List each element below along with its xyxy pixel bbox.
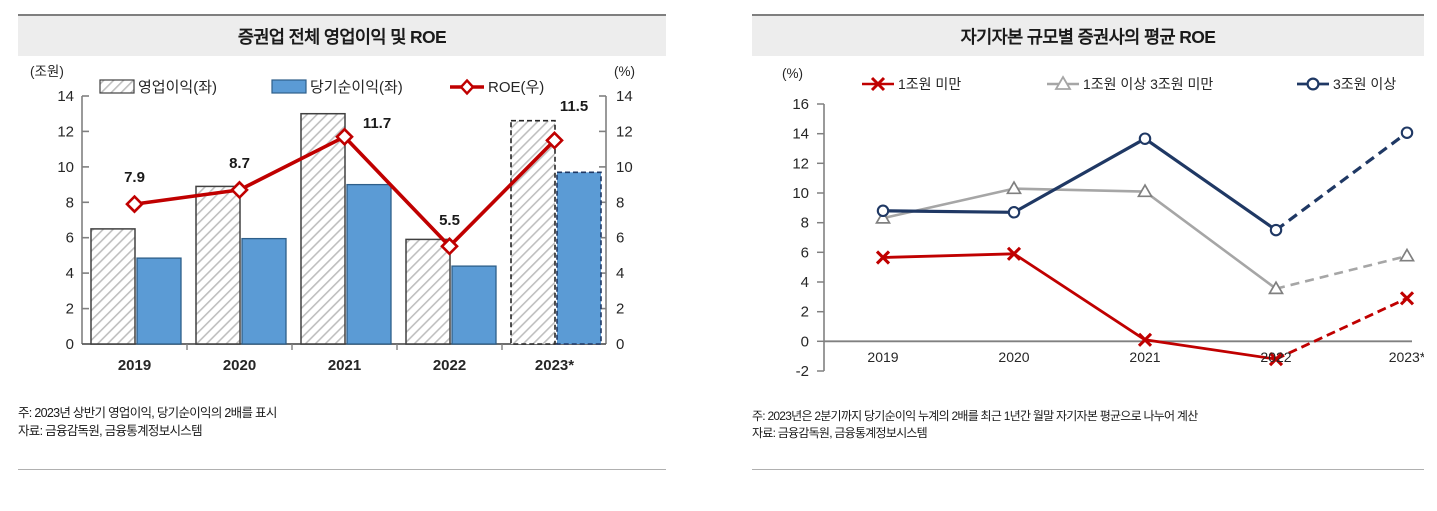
bar-operating-profit-2022 (406, 239, 450, 344)
right-chart-area: (%) 1조원 미만 1 (752, 56, 1424, 386)
legend-label-over-3tn: 3조원 이상 (1333, 76, 1396, 92)
x-label-2020: 2020 (223, 357, 256, 374)
bar-operating-profit-2023 (511, 121, 555, 344)
right-chart-panel: 자기자본 규모별 증권사의 평균 ROE (%) 1조원 미만 (752, 0, 1424, 470)
left-chart-bars (91, 114, 601, 344)
left-y-tick-2: 2 (66, 301, 74, 318)
roe-label-2019: 7.9 (124, 169, 145, 186)
right-chart-y-tick-neg2: -2 (796, 363, 809, 380)
marker-under-1tn-2023 (1401, 292, 1413, 304)
right-axis-unit-label: (%) (614, 64, 635, 79)
right-y-tick-8: 8 (616, 194, 624, 211)
left-chart-title-bar: 증권업 전체 영업이익 및 ROE (18, 14, 666, 56)
right-y-tick-6: 6 (616, 230, 624, 247)
left-axis-unit-label: (조원) (30, 64, 64, 79)
right-chart-x-axis-labels: 2019 2020 2021 2022 2023* (867, 349, 1424, 365)
left-y-tick-8: 8 (66, 194, 74, 211)
bar-net-income-2020 (242, 239, 286, 344)
markers-under-1tn (877, 248, 1413, 365)
right-chart-y-tick-8: 8 (801, 215, 809, 232)
marker-over-3tn-2022 (1271, 225, 1281, 235)
legend-item-under-1tn: 1조원 미만 (862, 76, 961, 92)
roe-label-2020: 8.7 (229, 155, 250, 172)
x-label-2022: 2022 (433, 357, 466, 374)
right-y-ticks: 14 12 10 8 6 4 2 0 (599, 88, 633, 353)
hatched-box-icon (100, 80, 134, 93)
left-y-tick-12: 12 (57, 123, 74, 140)
left-chart-legend: 영업이익(좌) 당기순이익(좌) ROE(우) (100, 79, 544, 96)
red-x-line-icon (862, 78, 894, 90)
legend-label-roe: ROE(우) (488, 79, 544, 96)
right-chart-y-tick-6: 6 (801, 244, 809, 261)
right-footnote-source: 자료: 금융감독원, 금융통계정보시스템 (752, 425, 1424, 442)
right-x-label-2020: 2020 (998, 349, 1029, 365)
right-y-tick-12: 12 (616, 123, 633, 140)
left-chart-footnote: 주: 2023년 상반기 영업이익, 당기순이익의 2배를 표시 자료: 금융감… (18, 404, 666, 470)
roe-label-2022: 5.5 (439, 212, 460, 229)
navy-circle-line-icon (1297, 79, 1329, 90)
series-1tn-to-3tn (877, 182, 1414, 293)
right-chart-y-tick-4: 4 (801, 274, 809, 291)
left-x-axis-labels: 2019 2020 2021 2022 2023* (118, 357, 574, 374)
right-chart-y-tick-16: 16 (792, 96, 809, 113)
right-chart-y-tick-2: 2 (801, 304, 809, 321)
right-chart-axes: 16 14 12 10 8 6 4 2 0 -2 (792, 96, 1412, 380)
left-y-ticks: 14 12 10 8 6 4 2 0 (57, 88, 89, 353)
series-under-1tn (877, 248, 1413, 365)
right-chart-unit-label: (%) (782, 66, 803, 81)
series-over-3tn (878, 128, 1412, 236)
right-chart-footnote: 주: 2023년은 2분기까지 당기순이익 누계의 2배를 최근 1년간 월말 … (752, 408, 1424, 470)
left-chart-panel: 증권업 전체 영업이익 및 ROE (조원) (%) 영업이익(좌) (18, 0, 666, 470)
legend-item-over-3tn: 3조원 이상 (1297, 76, 1396, 92)
left-footnote-source: 자료: 금융감독원, 금융통계정보시스템 (18, 422, 666, 440)
left-footnote-note: 주: 2023년 상반기 영업이익, 당기순이익의 2배를 표시 (18, 404, 666, 422)
legend-label-operating-profit: 영업이익(좌) (138, 79, 217, 96)
legend-item-net-income: 당기순이익(좌) (272, 79, 403, 96)
x-label-2019: 2019 (118, 357, 151, 374)
gray-triangle-line-icon (1047, 77, 1079, 89)
roe-label-2023: 11.5 (560, 98, 588, 115)
bar-operating-profit-2020 (196, 186, 240, 344)
marker-over-3tn-2019 (878, 206, 888, 216)
left-chart-area: (조원) (%) 영업이익(좌) 당기순이익(좌) (18, 56, 666, 386)
red-diamond-line-icon (450, 81, 484, 94)
right-chart-title: 자기자본 규모별 증권사의 평균 ROE (961, 24, 1216, 49)
marker-1tn-to-3tn-2023 (1401, 250, 1414, 261)
marker-over-3tn-2020 (1009, 207, 1019, 217)
right-chart-y-tick-0: 0 (801, 333, 809, 350)
roe-label-2021: 11.7 (363, 115, 391, 132)
legend-item-operating-profit: 영업이익(좌) (100, 79, 217, 96)
right-y-tick-2: 2 (616, 301, 624, 318)
left-chart-title: 증권업 전체 영업이익 및 ROE (238, 24, 446, 49)
right-y-tick-4: 4 (616, 265, 624, 282)
right-chart-y-tick-14: 14 (792, 126, 809, 143)
x-label-2021: 2021 (328, 357, 361, 374)
x-label-2023: 2023* (535, 357, 574, 374)
bar-net-income-2021 (347, 185, 391, 344)
left-y-tick-10: 10 (57, 159, 74, 176)
marker-over-3tn-2021 (1140, 134, 1150, 144)
left-y-tick-14: 14 (57, 88, 74, 105)
bar-net-income-2022 (452, 266, 496, 344)
right-x-label-2023: 2023* (1389, 349, 1424, 365)
legend-label-under-1tn: 1조원 미만 (898, 76, 961, 92)
bar-operating-profit-2019 (91, 229, 135, 344)
right-x-label-2021: 2021 (1129, 349, 1160, 365)
legend-item-roe: ROE(우) (450, 79, 544, 96)
bar-net-income-2019 (137, 258, 181, 344)
right-chart-legend: 1조원 미만 1조원 이상 3조원 미만 (862, 76, 1396, 92)
right-chart-title-bar: 자기자본 규모별 증권사의 평균 ROE (752, 14, 1424, 56)
left-y-tick-4: 4 (66, 265, 74, 282)
right-y-tick-14: 14 (616, 88, 633, 105)
legend-label-net-income: 당기순이익(좌) (310, 79, 403, 96)
right-chart-y-ticks: 16 14 12 10 8 6 4 2 0 -2 (792, 96, 824, 380)
marker-over-3tn-2023 (1402, 128, 1412, 138)
legend-item-1tn-to-3tn: 1조원 이상 3조원 미만 (1047, 76, 1213, 92)
legend-label-1tn-to-3tn: 1조원 이상 3조원 미만 (1083, 76, 1213, 92)
left-y-tick-0: 0 (66, 336, 74, 353)
left-y-tick-6: 6 (66, 230, 74, 247)
right-y-tick-10: 10 (616, 159, 633, 176)
right-x-label-2022: 2022 (1260, 349, 1291, 365)
right-chart-y-tick-10: 10 (792, 185, 809, 202)
right-x-label-2019: 2019 (867, 349, 898, 365)
right-footnote-note: 주: 2023년은 2분기까지 당기순이익 누계의 2배를 최근 1년간 월말 … (752, 408, 1424, 425)
figure-page: 증권업 전체 영업이익 및 ROE (조원) (%) 영업이익(좌) (0, 0, 1437, 511)
right-chart-y-tick-12: 12 (792, 155, 809, 172)
bar-net-income-2023 (557, 172, 601, 344)
right-y-tick-0: 0 (616, 336, 624, 353)
blue-box-icon (272, 80, 306, 93)
roe-marker-2019 (127, 197, 142, 212)
